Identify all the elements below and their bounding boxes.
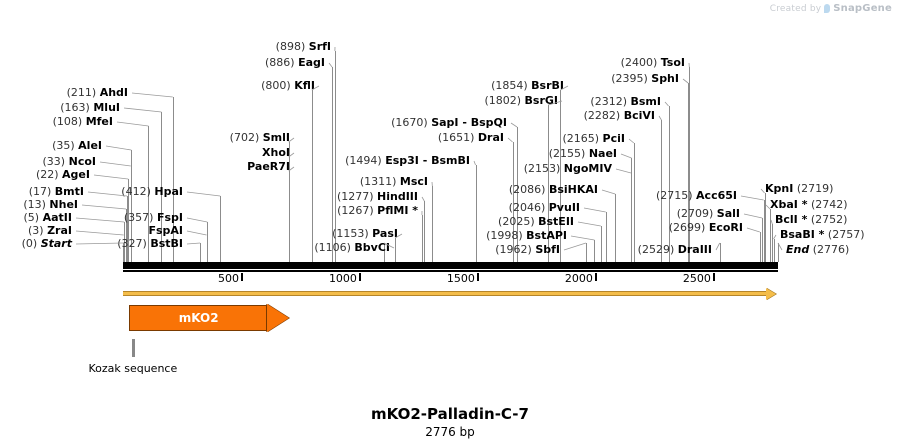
- leader-line: [683, 79, 688, 83]
- leader-line: [329, 63, 332, 67]
- leader-line: [747, 228, 760, 232]
- leader-line: [187, 231, 207, 235]
- page-title: mKO2-Palladin-C-7: [0, 405, 900, 423]
- ruler-tick: [595, 273, 597, 281]
- feature-label-mko2: mKO2: [118, 305, 279, 331]
- ruler-label: 1000: [329, 272, 357, 285]
- plasmid-length: 2776 bp: [0, 425, 900, 439]
- leader-line: [474, 161, 476, 165]
- leader-line: [766, 205, 770, 209]
- leader-line: [560, 86, 568, 90]
- leader-line: [312, 86, 319, 90]
- ruler-tick: [359, 273, 361, 281]
- leader-line: [384, 243, 394, 248]
- leader-line: [778, 243, 782, 250]
- kozak-marker[interactable]: [132, 339, 135, 357]
- ruler-label: 500: [218, 272, 239, 285]
- span-arrow-head: [766, 288, 776, 300]
- ruler-tick: [713, 273, 715, 281]
- ruler-label: 2000: [565, 272, 593, 285]
- leader-line: [289, 138, 294, 142]
- leader-line: [100, 162, 131, 166]
- leader-line: [571, 236, 594, 240]
- span-arrow-full-length[interactable]: [123, 291, 778, 296]
- ruler-label: 1500: [447, 272, 475, 285]
- leader-line: [761, 189, 765, 193]
- leader-line: [76, 243, 123, 244]
- leader-line: [289, 167, 294, 171]
- leader-line: [76, 231, 124, 235]
- leader-line: [422, 197, 424, 201]
- leader-line: [578, 222, 601, 226]
- leader-line: [132, 93, 173, 97]
- leader-line: [665, 102, 669, 106]
- leader-line: [659, 116, 661, 120]
- ruler-tick: [477, 273, 479, 281]
- leader-line: [106, 146, 131, 150]
- leader-line: [741, 196, 764, 200]
- leader-line: [395, 234, 402, 238]
- leader-line: [616, 169, 631, 173]
- leader-line: [508, 138, 513, 142]
- leader-line: [88, 192, 127, 196]
- leader-line: [744, 214, 762, 218]
- leader-line: [602, 190, 615, 194]
- leader-line: [124, 108, 161, 112]
- leader-line: [82, 205, 126, 209]
- backbone-line: [123, 262, 778, 269]
- leader-line: [621, 154, 631, 158]
- leader-line-layer: [0, 0, 900, 448]
- leader-line: [629, 139, 634, 143]
- feature-arrow-mko2[interactable]: mKO2: [129, 305, 290, 331]
- leader-line: [94, 175, 128, 179]
- leader-line: [187, 192, 220, 196]
- leader-line: [511, 123, 517, 127]
- snapgene-linear-map: Created by SnapGene (0) Start(3) ZraI(5)…: [0, 0, 900, 448]
- leader-line: [771, 220, 772, 224]
- leader-line: [187, 218, 207, 222]
- leader-line: [548, 101, 562, 105]
- leader-line: [76, 218, 124, 222]
- leader-line: [117, 122, 148, 126]
- leader-line: [716, 243, 720, 250]
- leader-line: [564, 243, 586, 250]
- leader-line: [187, 243, 200, 244]
- leader-line: [774, 235, 776, 239]
- leader-line: [584, 208, 606, 212]
- leader-line: [289, 153, 294, 157]
- span-arrow-bar: [123, 291, 768, 296]
- kozak-label: Kozak sequence: [88, 362, 177, 375]
- ruler-label: 2500: [683, 272, 711, 285]
- ruler-tick: [241, 273, 243, 281]
